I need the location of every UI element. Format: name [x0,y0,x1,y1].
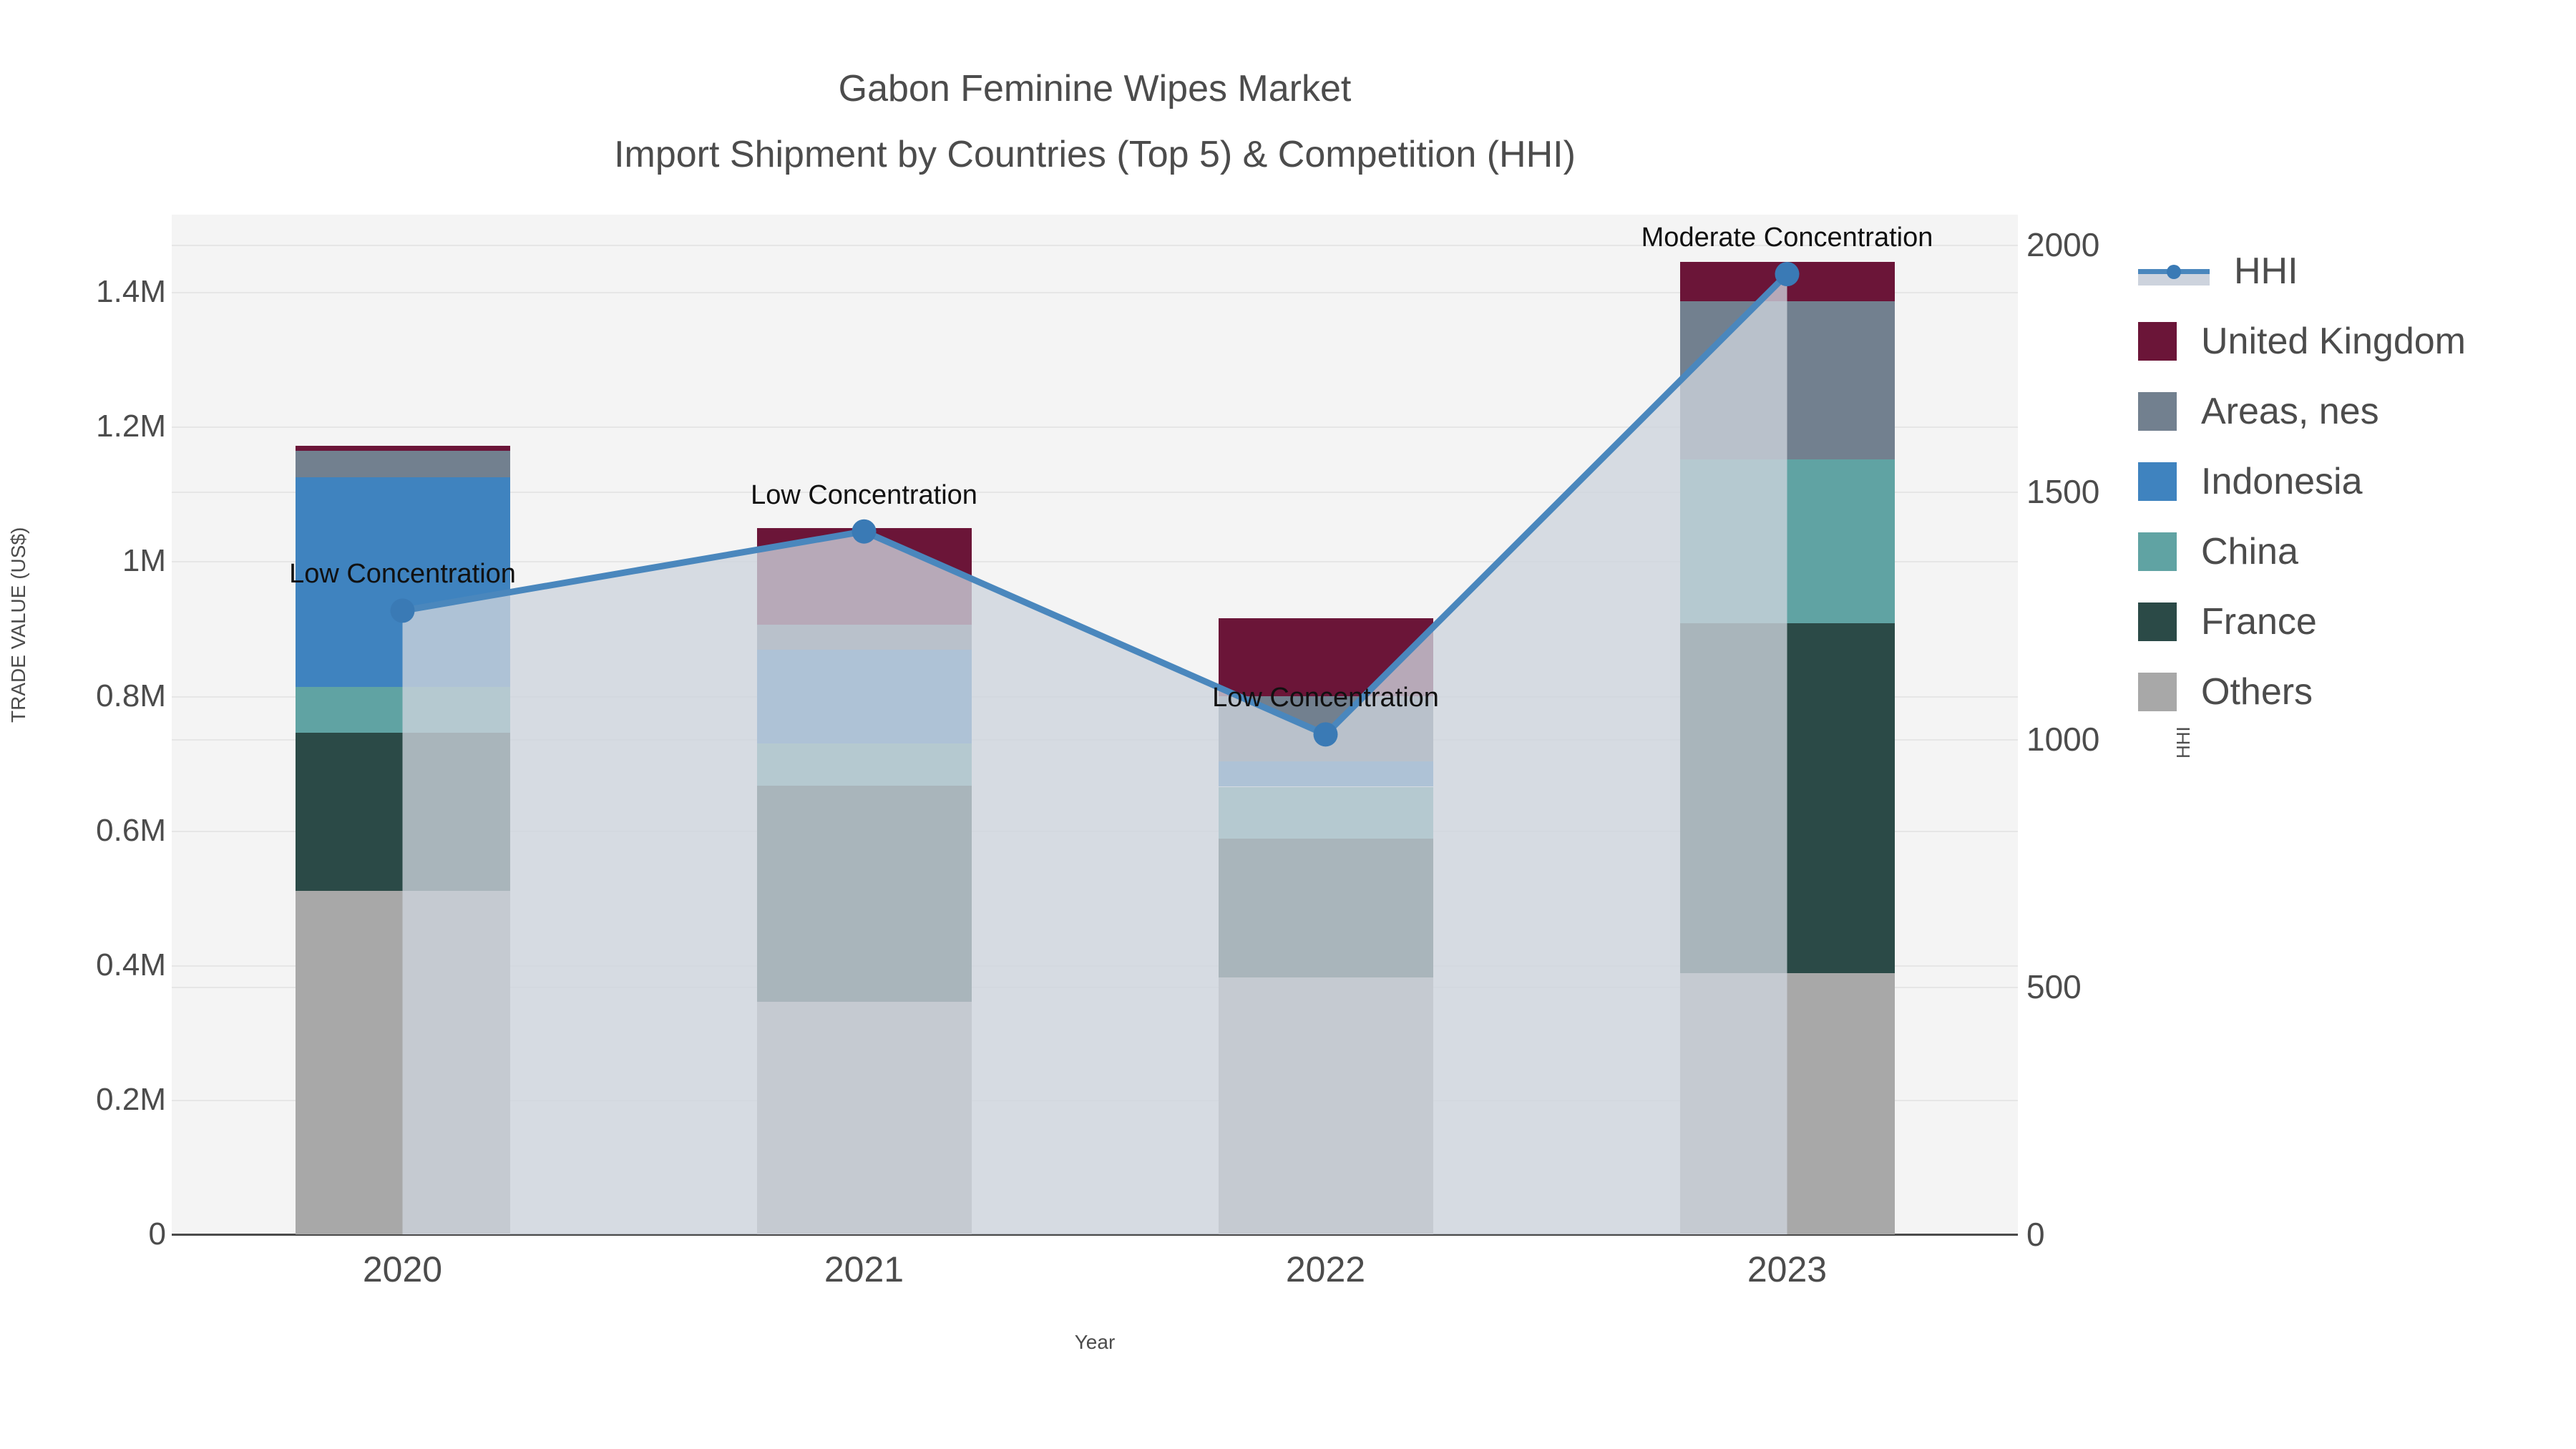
bar-segment[interactable] [757,786,972,1002]
y-axis-left-tick: 0.8M [96,678,166,714]
legend-item-hhi[interactable]: HHI [2138,236,2466,306]
y-axis-right-tick: 1500 [2026,472,2099,511]
legend-swatch-icon [2138,673,2177,711]
legend-label: Indonesia [2201,460,2363,503]
concentration-annotation: Low Concentration [1212,683,1439,713]
y-axis-left-tick: 0.4M [96,947,166,983]
bar-segment[interactable] [296,891,510,1234]
chart-root: Gabon Feminine Wipes Market Import Shipm… [0,0,2576,1449]
chart-title-line-2: Import Shipment by Countries (Top 5) & C… [0,122,2190,187]
y-axis-right-tick: 1000 [2026,720,2099,758]
y-axis-left-label: TRADE VALUE (US$) [7,527,30,723]
legend-label: China [2201,530,2298,573]
legend-item-china[interactable]: China [2138,517,2466,587]
concentration-annotation: Low Concentration [289,559,516,590]
y-axis-right-tick: 2000 [2026,225,2099,264]
bar-segment[interactable] [296,733,510,891]
legend-item-indonesia[interactable]: Indonesia [2138,447,2466,517]
x-axis-tick: 2021 [721,1249,1008,1290]
chart-title: Gabon Feminine Wipes Market Import Shipm… [0,56,2190,187]
bar-segment[interactable] [1680,459,1895,623]
bar-segment[interactable] [757,743,972,785]
y-axis-left-tick: 0.2M [96,1082,166,1118]
bar-segment[interactable] [1680,973,1895,1234]
x-axis-tick: 2022 [1183,1249,1469,1290]
bar-segment[interactable] [296,451,510,477]
x-axis-tick: 2023 [1644,1249,1931,1290]
bar-segment[interactable] [1219,787,1433,839]
concentration-annotation: Moderate Concentration [1641,223,1933,253]
legend-item-areas-nes[interactable]: Areas, nes [2138,376,2466,447]
legend-item-france[interactable]: France [2138,587,2466,657]
y-axis-left-tick: 1.4M [96,274,166,310]
legend-label: Areas, nes [2201,390,2379,433]
bar-segment[interactable] [1680,623,1895,973]
x-axis-tick: 2020 [260,1249,546,1290]
y-axis-right-tick: 0 [2026,1215,2045,1254]
legend-swatch-icon [2138,602,2177,641]
bar-segment[interactable] [1219,839,1433,977]
bar-segment[interactable] [1219,977,1433,1234]
y-axis-left-tick: 0 [149,1216,166,1252]
bar-segment[interactable] [296,446,510,452]
chart-legend: HHIUnited KingdomAreas, nesIndonesiaChin… [2138,236,2466,727]
y-axis-left-tick: 0.6M [96,813,166,849]
legend-swatch-icon [2138,462,2177,501]
bar-segment[interactable] [1219,761,1433,787]
legend-label: HHI [2234,250,2298,293]
legend-label: Others [2201,670,2313,713]
legend-label: France [2201,600,2317,643]
legend-line-icon [2138,252,2210,291]
legend-swatch-icon [2138,322,2177,361]
concentration-annotation: Low Concentration [751,480,977,511]
y-axis-left-tick: 1M [122,543,166,579]
bar-segment[interactable] [296,687,510,733]
legend-item-others[interactable]: Others [2138,657,2466,727]
legend-swatch-icon [2138,532,2177,571]
bar-segment[interactable] [1680,301,1895,459]
y-axis-left-tick: 1.2M [96,409,166,444]
chart-title-line-1: Gabon Feminine Wipes Market [0,56,2190,122]
bar-segment[interactable] [757,625,972,650]
x-axis-label: Year [172,1331,2018,1354]
legend-swatch-icon [2138,392,2177,431]
y-axis-right-label: HHI [2172,726,2195,758]
bar-segment[interactable] [757,528,972,625]
legend-item-united-kingdom[interactable]: United Kingdom [2138,306,2466,376]
bar-segment[interactable] [757,650,972,744]
bar-segment[interactable] [757,1002,972,1234]
y-axis-right-tick: 500 [2026,967,2082,1006]
legend-label: United Kingdom [2201,320,2466,363]
bar-segment[interactable] [1680,262,1895,301]
